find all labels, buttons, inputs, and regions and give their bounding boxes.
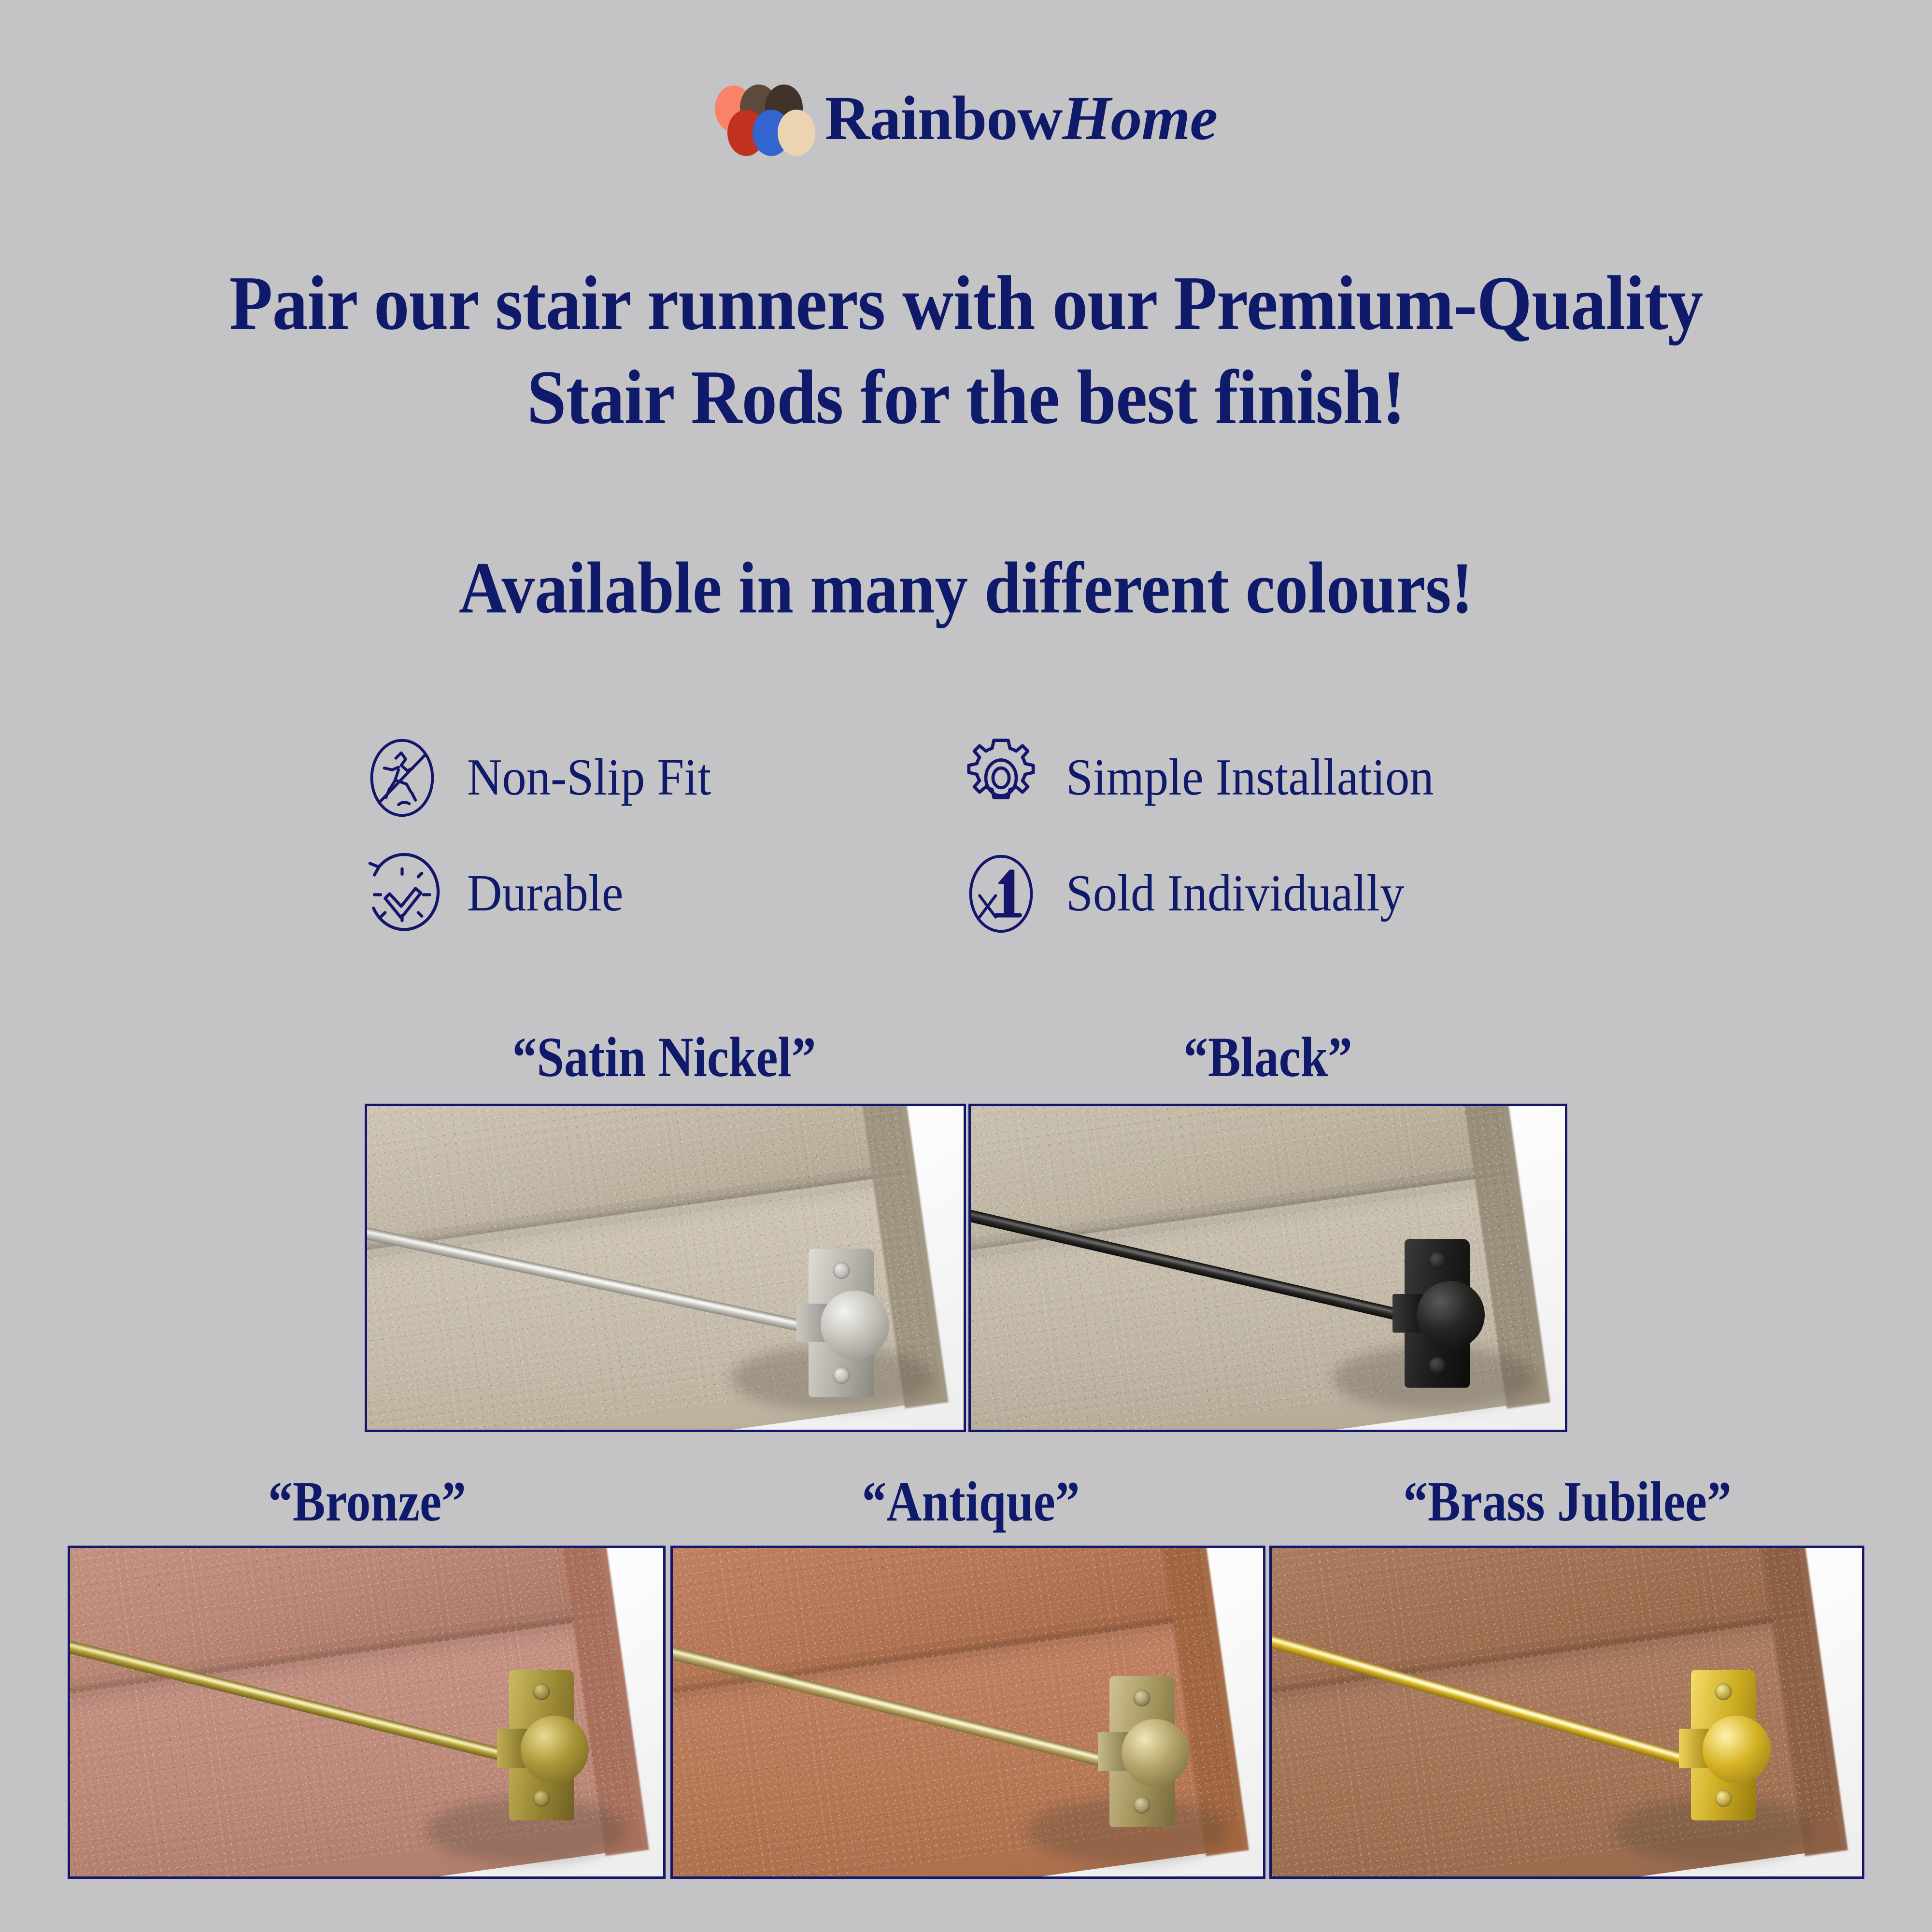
- logo-dots-icon: [715, 85, 816, 152]
- rod-finial: [821, 1291, 889, 1359]
- rod-finial: [521, 1716, 589, 1784]
- swatch-label-brass-jubilee: “Brass Jubilee”: [1310, 1473, 1825, 1530]
- product-photo-black[interactable]: [968, 1104, 1567, 1432]
- feature-label: Simple Installation: [1066, 752, 1434, 804]
- feature-non-slip-fit: Non-Slip Fit: [357, 720, 956, 836]
- headline-line-2: Stair Rods for the best finish!: [77, 350, 1855, 444]
- clock-check-icon: [357, 849, 447, 938]
- no-slip-icon: [357, 733, 447, 823]
- feature-label: Sold Individually: [1066, 867, 1404, 920]
- swatch-label-bronze: “Bronze”: [110, 1473, 625, 1530]
- swatch-label-black: “Black”: [1010, 1029, 1525, 1086]
- rod-finial: [1122, 1719, 1190, 1787]
- headline: Pair our stair runners with our Premium-…: [77, 256, 1855, 444]
- feature-list: Non-Slip Fit Simple Installation: [357, 720, 1594, 952]
- logo-word-rainbow: Rainbow: [825, 84, 1062, 153]
- logo-word-home: Home: [1062, 84, 1217, 153]
- headline-line-1: Pair our stair runners with our Premium-…: [77, 256, 1855, 350]
- feature-label: Durable: [467, 867, 623, 920]
- feature-label: Non-Slip Fit: [467, 752, 711, 804]
- feature-sold-individually: Sold Individually: [956, 836, 1594, 952]
- logo-wordmark: RainbowHome: [825, 87, 1217, 150]
- subheading: Available in many different colours!: [97, 546, 1835, 630]
- product-photo-satin-nickel[interactable]: [365, 1104, 966, 1432]
- swatch-label-satin-nickel: “Satin Nickel”: [407, 1029, 922, 1086]
- feature-durable: Durable: [357, 836, 956, 952]
- brand-logo: RainbowHome: [0, 85, 1932, 152]
- rod-finial: [1417, 1281, 1485, 1349]
- feature-simple-installation: Simple Installation: [956, 720, 1594, 836]
- rod-finial: [1703, 1716, 1771, 1784]
- logo-dot-cream: [778, 110, 815, 156]
- product-photo-brass-jubilee[interactable]: [1269, 1546, 1864, 1879]
- product-photo-bronze[interactable]: [68, 1546, 666, 1879]
- product-photo-antique[interactable]: [670, 1546, 1265, 1879]
- gear-icon: [956, 733, 1046, 823]
- swatch-label-antique: “Antique”: [713, 1473, 1228, 1530]
- times-one-icon: [956, 849, 1046, 938]
- promo-page: RainbowHome Pair our stair runners with …: [0, 0, 1932, 1932]
